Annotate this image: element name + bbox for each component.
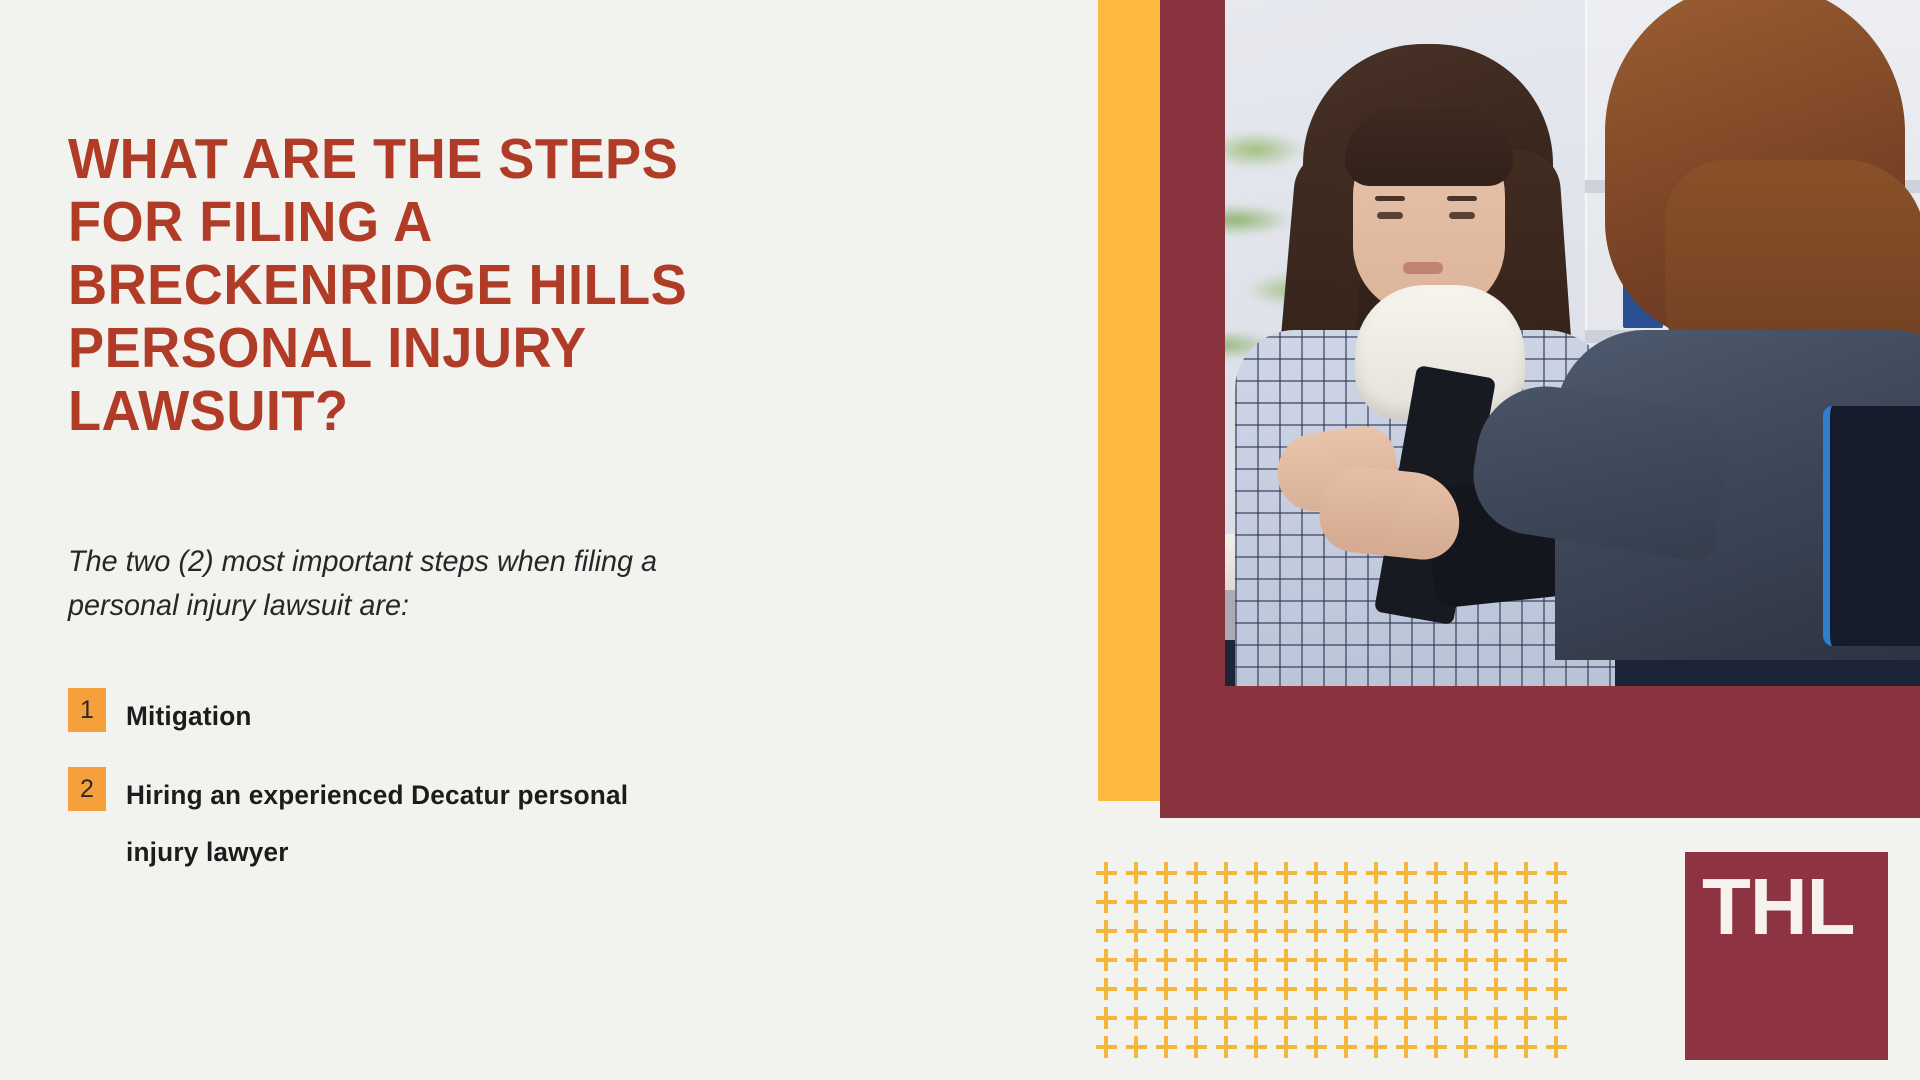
plus-icon	[1246, 1007, 1276, 1036]
plus-icon	[1216, 920, 1246, 949]
plus-icon	[1516, 862, 1546, 891]
plus-icon	[1456, 891, 1486, 920]
plus-icon	[1366, 891, 1396, 920]
steps-list: 1 Mitigation 2 Hiring an experienced Dec…	[68, 688, 808, 903]
plus-icon	[1456, 920, 1486, 949]
plus-icon	[1096, 920, 1126, 949]
plus-icon	[1336, 1007, 1366, 1036]
plus-icon	[1336, 862, 1366, 891]
plus-icon	[1156, 920, 1186, 949]
plus-icon	[1246, 949, 1276, 978]
plus-icon	[1366, 862, 1396, 891]
plus-icon	[1546, 920, 1576, 949]
plus-icon	[1456, 978, 1486, 1007]
plus-icon	[1306, 1036, 1336, 1065]
plus-icon	[1396, 862, 1426, 891]
plus-icon	[1276, 1036, 1306, 1065]
plus-icon	[1426, 862, 1456, 891]
client-brow	[1447, 196, 1477, 201]
plus-icon	[1096, 978, 1126, 1007]
plus-icon	[1396, 978, 1426, 1007]
plus-icon	[1426, 978, 1456, 1007]
plus-icon	[1156, 891, 1186, 920]
plus-icon	[1426, 1036, 1456, 1065]
plus-icon	[1186, 862, 1216, 891]
list-item: 2 Hiring an experienced Decatur personal…	[68, 767, 808, 881]
plus-icon	[1426, 949, 1456, 978]
logo-text: THL	[1702, 864, 1855, 950]
plus-icon	[1366, 1036, 1396, 1065]
plus-icon	[1126, 920, 1156, 949]
plus-icon	[1516, 978, 1546, 1007]
plus-icon	[1186, 949, 1216, 978]
plus-icon	[1276, 891, 1306, 920]
plus-icon	[1546, 949, 1576, 978]
plus-icon	[1366, 978, 1396, 1007]
plus-icon	[1396, 1007, 1426, 1036]
client-eye	[1449, 212, 1475, 219]
client-eye	[1377, 212, 1403, 219]
plus-icon	[1366, 1007, 1396, 1036]
plus-icon	[1516, 949, 1546, 978]
plus-icon	[1456, 949, 1486, 978]
plus-icon	[1186, 1007, 1216, 1036]
subheading-text: The two (2) most important steps when fi…	[68, 540, 769, 628]
plus-icon	[1546, 1007, 1576, 1036]
plus-icon	[1306, 949, 1336, 978]
plus-icon	[1096, 1007, 1126, 1036]
plus-icon	[1426, 920, 1456, 949]
plus-icon	[1336, 891, 1366, 920]
plus-icon	[1246, 920, 1276, 949]
plus-icon	[1126, 949, 1156, 978]
plus-icon	[1366, 949, 1396, 978]
step-label: Hiring an experienced Decatur personal i…	[126, 767, 708, 881]
plus-icon	[1456, 1007, 1486, 1036]
plus-icon	[1486, 1007, 1516, 1036]
plus-icon	[1126, 891, 1156, 920]
list-item: 1 Mitigation	[68, 688, 808, 745]
plus-icon	[1186, 1036, 1216, 1065]
plus-icon	[1096, 891, 1126, 920]
plus-icon	[1216, 949, 1246, 978]
step-number-badge: 2	[68, 767, 106, 811]
plus-icon	[1456, 1036, 1486, 1065]
step-number-badge: 1	[68, 688, 106, 732]
client-mouth	[1403, 262, 1443, 274]
client-brow	[1375, 196, 1405, 201]
plus-icon	[1396, 1036, 1426, 1065]
content-column: WHAT ARE THE STEPS FOR FILING A BRECKENR…	[68, 0, 858, 1080]
plus-icon	[1306, 891, 1336, 920]
plus-icon	[1486, 978, 1516, 1007]
plus-icon	[1276, 862, 1306, 891]
plus-icon	[1126, 862, 1156, 891]
plus-icon	[1456, 862, 1486, 891]
plus-icon	[1516, 891, 1546, 920]
plus-icon	[1096, 1036, 1126, 1065]
plus-icon	[1516, 920, 1546, 949]
plus-icon	[1426, 1007, 1456, 1036]
plus-icon	[1156, 949, 1186, 978]
plus-icon	[1186, 978, 1216, 1007]
plus-icon	[1306, 862, 1336, 891]
plus-icon	[1336, 1036, 1366, 1065]
plus-icon	[1516, 1007, 1546, 1036]
plus-icon	[1126, 1007, 1156, 1036]
plus-icon	[1216, 1036, 1246, 1065]
plus-icon	[1486, 1036, 1516, 1065]
plus-icon	[1306, 920, 1336, 949]
office-chair	[1823, 406, 1920, 646]
plus-icon	[1276, 920, 1306, 949]
plus-icon	[1276, 1007, 1306, 1036]
plus-icon	[1276, 978, 1306, 1007]
plus-icon	[1396, 891, 1426, 920]
plus-icon	[1246, 862, 1276, 891]
plus-icon	[1336, 978, 1366, 1007]
infographic-canvas: WHAT ARE THE STEPS FOR FILING A BRECKENR…	[0, 0, 1920, 1080]
plus-icon	[1096, 949, 1126, 978]
plus-icon	[1246, 978, 1276, 1007]
plus-icon	[1096, 862, 1126, 891]
plus-icon	[1396, 949, 1426, 978]
plus-icon	[1366, 920, 1396, 949]
plus-icon	[1396, 920, 1426, 949]
plus-icon	[1336, 920, 1366, 949]
plus-icon	[1546, 891, 1576, 920]
plus-icon	[1486, 949, 1516, 978]
plus-icon	[1546, 1036, 1576, 1065]
plus-icon	[1186, 891, 1216, 920]
plus-icon	[1516, 1036, 1546, 1065]
plus-icon	[1426, 891, 1456, 920]
plus-icon	[1156, 978, 1186, 1007]
plus-icon	[1216, 978, 1246, 1007]
client-bangs	[1345, 108, 1513, 186]
plus-icon	[1246, 1036, 1276, 1065]
plus-icon	[1156, 1007, 1186, 1036]
page-title: WHAT ARE THE STEPS FOR FILING A BRECKENR…	[68, 128, 809, 443]
plus-icon	[1126, 978, 1156, 1007]
plus-icon	[1546, 978, 1576, 1007]
plus-icon	[1486, 891, 1516, 920]
step-label: Mitigation	[126, 688, 708, 745]
plus-icon	[1276, 949, 1306, 978]
plus-icon	[1216, 1007, 1246, 1036]
plus-icon	[1216, 891, 1246, 920]
plus-icon	[1486, 920, 1516, 949]
thl-logo: THL	[1685, 852, 1888, 1060]
plus-icon	[1306, 1007, 1336, 1036]
plus-icon	[1306, 978, 1336, 1007]
plus-icon	[1546, 862, 1576, 891]
plus-icon	[1246, 891, 1276, 920]
plus-pattern-decoration	[1096, 862, 1546, 1062]
personal-injury-consultation-photo	[1225, 0, 1920, 686]
plus-icon	[1216, 862, 1246, 891]
plus-icon	[1126, 1036, 1156, 1065]
plus-icon	[1156, 862, 1186, 891]
plus-icon	[1486, 862, 1516, 891]
plus-icon	[1186, 920, 1216, 949]
plus-icon	[1156, 1036, 1186, 1065]
plus-icon	[1336, 949, 1366, 978]
